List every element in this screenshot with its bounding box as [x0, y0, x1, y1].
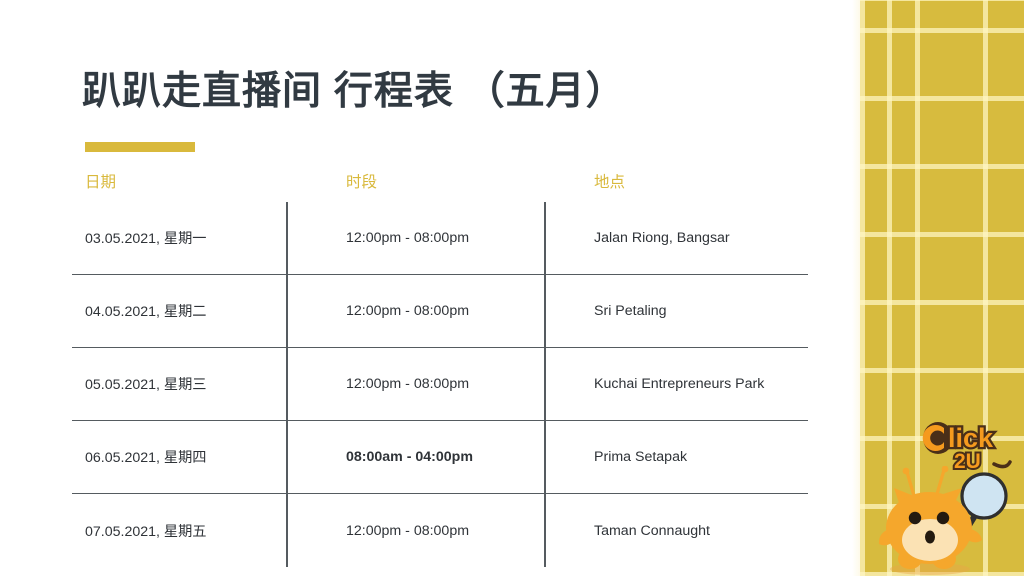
mascot-mouth	[925, 531, 935, 544]
brand-mark: lick 2U	[874, 414, 1024, 576]
table-row: 05.05.2021, 星期三 12:00pm - 08:00pm Kuchai…	[72, 348, 808, 421]
table-header-row: 日期 时段 地点	[72, 166, 808, 202]
cell-date: 03.05.2021, 星期一	[72, 228, 286, 248]
cell-place: Prima Setapak	[544, 449, 808, 465]
table-row: 04.05.2021, 星期二 12:00pm - 08:00pm Sri Pe…	[72, 275, 808, 348]
cell-time: 12:00pm - 08:00pm	[286, 376, 544, 392]
schedule-table: 日期 时段 地点 03.05.2021, 星期一 12:00pm - 08:00…	[72, 166, 808, 567]
cell-date: 07.05.2021, 星期五	[72, 521, 286, 541]
mascot-character	[874, 466, 992, 576]
mascot-antennae	[903, 466, 949, 496]
cell-place: Taman Connaught	[544, 523, 808, 539]
column-divider-time-place	[544, 202, 546, 567]
cell-time: 12:00pm - 08:00pm	[286, 303, 544, 319]
cell-time: 08:00am - 04:00pm	[286, 449, 544, 465]
cell-time: 12:00pm - 08:00pm	[286, 230, 544, 246]
page-title: 趴趴走直播间 行程表 （五月）	[82, 60, 626, 116]
cell-date: 06.05.2021, 星期四	[72, 447, 286, 467]
column-header-date: 日期	[72, 166, 286, 192]
column-header-place: 地点	[544, 166, 808, 192]
title-accent-bar	[85, 142, 195, 152]
mascot-eye-right	[937, 512, 949, 524]
cell-time: 12:00pm - 08:00pm	[286, 523, 544, 539]
cell-date: 05.05.2021, 星期三	[72, 374, 286, 394]
cell-place: Jalan Riong, Bangsar	[544, 230, 808, 246]
cell-place: Sri Petaling	[544, 303, 808, 319]
mascot-eye-left	[909, 512, 921, 524]
column-divider-date-time	[286, 202, 288, 567]
table-row: 03.05.2021, 星期一 12:00pm - 08:00pm Jalan …	[72, 202, 808, 275]
cell-place: Kuchai Entrepreneurs Park	[544, 376, 808, 392]
column-header-time: 时段	[286, 166, 544, 192]
logo-text-click: lick	[948, 423, 994, 453]
table-row: 07.05.2021, 星期五 12:00pm - 08:00pm Taman …	[72, 494, 808, 567]
cell-date: 04.05.2021, 星期二	[72, 301, 286, 321]
table-row: 06.05.2021, 星期四 08:00am - 04:00pm Prima …	[72, 421, 808, 494]
table-body: 03.05.2021, 星期一 12:00pm - 08:00pm Jalan …	[72, 202, 808, 567]
